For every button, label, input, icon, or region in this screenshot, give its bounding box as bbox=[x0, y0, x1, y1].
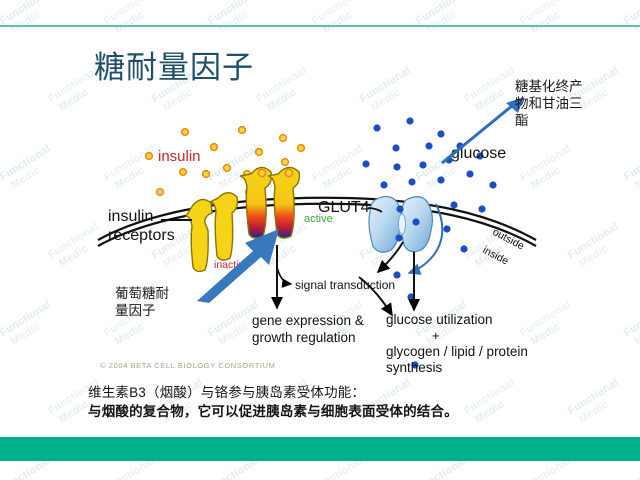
slide-canvas: FunctionalMedicFunctionalMedicFunctional… bbox=[0, 0, 640, 480]
watermark-tile: FunctionalMedic bbox=[414, 0, 476, 39]
label-insulin-receptors-line1: insulin bbox=[108, 208, 153, 225]
watermark-tile: FunctionalMedic bbox=[0, 143, 60, 195]
caption-line-2: 与烟酸的复合物，它可以促进胰岛素与细胞表面受体的结合。 bbox=[88, 402, 588, 422]
label-gene-expression-line2: growth regulation bbox=[252, 330, 356, 345]
label-insulin-receptors-line2: receptors bbox=[108, 227, 175, 244]
watermark-tile: FunctionalMedic bbox=[622, 0, 640, 39]
label-signal-transduction: signal transduction bbox=[295, 278, 395, 292]
watermark-tile: FunctionalMedic bbox=[0, 0, 60, 39]
bottom-accent-bar bbox=[0, 437, 640, 461]
watermark-tile: FunctionalMedic bbox=[358, 65, 420, 117]
label-insulin: insulin bbox=[158, 148, 201, 165]
watermark-tile: FunctionalMedic bbox=[254, 65, 316, 117]
watermark-tile: FunctionalMedic bbox=[518, 0, 580, 39]
label-inside: inside bbox=[481, 244, 511, 268]
label-glucose-utilization: glucose utilization bbox=[386, 312, 493, 327]
blue-arrow-to-active-receptor bbox=[195, 225, 295, 305]
label-glycogen-lipid-protein: glycogen / lipid / protein bbox=[386, 344, 528, 359]
page-title: 糖耐量因子 bbox=[94, 50, 254, 86]
label-synthesis: synthesis bbox=[386, 360, 443, 375]
top-divider-rule bbox=[0, 25, 640, 27]
watermark-tile: FunctionalMedic bbox=[0, 299, 60, 351]
watermark-tile: FunctionalMedic bbox=[622, 299, 640, 351]
label-gene-expression-line1: gene expression & bbox=[252, 313, 364, 328]
watermark-tile: FunctionalMedic bbox=[0, 221, 4, 273]
watermark-tile: FunctionalMedic bbox=[0, 65, 4, 117]
caption-line-1: 维生素B3（烟酸）与铬参与胰岛素受体功能： bbox=[88, 383, 588, 402]
label-plus: + bbox=[432, 328, 440, 343]
caption-block: 维生素B3（烟酸）与铬参与胰岛素受体功能： 与烟酸的复合物，它可以促进胰岛素与细… bbox=[88, 383, 588, 422]
annotation-left-text: 葡萄糖耐 量因子 bbox=[115, 285, 169, 319]
watermark-tile: FunctionalMedic bbox=[622, 143, 640, 195]
watermark-tile: FunctionalMedic bbox=[206, 0, 268, 39]
copyright-notice: © 2004 BETA CELL BIOLOGY CONSORTIUM bbox=[100, 361, 275, 370]
annotation-right-text: 糖基化终产 物和甘油三 酯 bbox=[515, 78, 583, 129]
watermark-tile: FunctionalMedic bbox=[0, 377, 4, 429]
watermark-tile: FunctionalMedic bbox=[310, 0, 372, 39]
watermark-tile: FunctionalMedic bbox=[102, 0, 164, 39]
label-glut4: GLUT4 bbox=[318, 199, 370, 216]
